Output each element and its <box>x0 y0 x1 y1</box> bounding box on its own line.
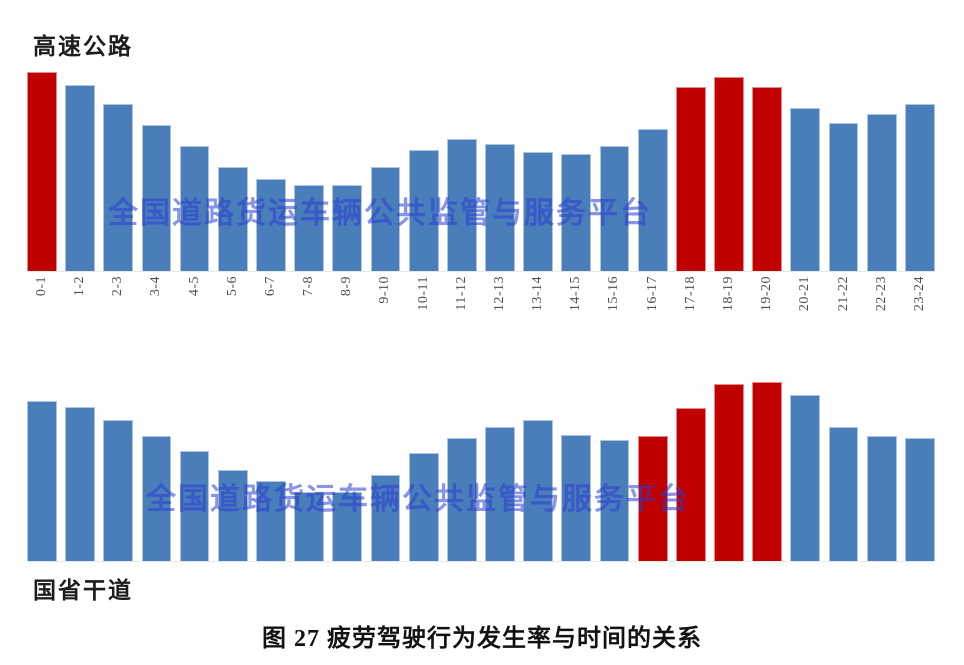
bar-15-16 <box>600 146 630 271</box>
bar-17-18 <box>676 408 706 561</box>
bar-4-5 <box>180 451 210 561</box>
bar-18-19 <box>714 384 744 561</box>
bar-23-24 <box>905 104 935 271</box>
x-tick-label-9-10: 9-10 <box>377 276 393 304</box>
x-axis-tick-labels: 0-11-22-33-44-55-66-77-88-99-1010-1111-1… <box>27 274 935 330</box>
x-tick-label-17-18: 17-18 <box>683 276 699 311</box>
bar-1-2 <box>65 85 95 271</box>
x-tick-wrap: 10-11 <box>409 274 439 330</box>
figure-caption: 图 27 疲劳驾驶行为发生率与时间的关系 <box>0 618 964 653</box>
bar-14-15 <box>561 154 591 271</box>
x-tick-label-3-4: 3-4 <box>148 276 164 296</box>
bar-12-13 <box>485 427 515 561</box>
bar-6-7 <box>256 481 286 561</box>
x-tick-wrap: 8-9 <box>332 274 362 330</box>
x-tick-label-12-13: 12-13 <box>492 276 508 311</box>
bar-21-22 <box>829 123 859 271</box>
x-tick-wrap: 16-17 <box>638 274 668 330</box>
bar-22-23 <box>867 436 897 561</box>
axis-baseline-bottom <box>27 561 935 562</box>
x-tick-wrap: 5-6 <box>218 274 248 330</box>
x-tick-label-15-16: 15-16 <box>606 276 622 311</box>
x-tick-wrap: 13-14 <box>523 274 553 330</box>
figure-container: 高速公路 全国道路货运车辆公共监管与服务平台 0-11-22-33-44-55-… <box>0 0 964 665</box>
bar-15-16 <box>600 440 630 561</box>
bar-20-21 <box>790 108 820 271</box>
bar-18-19 <box>714 77 744 271</box>
bar-8-9 <box>332 185 362 271</box>
x-tick-label-21-22: 21-22 <box>836 276 852 311</box>
bar-12-13 <box>485 144 515 271</box>
bar-7-8 <box>294 185 324 271</box>
x-tick-label-10-11: 10-11 <box>416 276 432 311</box>
x-tick-label-16-17: 16-17 <box>645 276 661 311</box>
bar-10-11 <box>409 453 439 561</box>
x-tick-label-2-3: 2-3 <box>110 276 126 296</box>
x-tick-wrap: 18-19 <box>714 274 744 330</box>
x-tick-wrap: 3-4 <box>142 274 172 330</box>
bar-16-17 <box>638 436 668 561</box>
x-tick-label-0-1: 0-1 <box>34 276 50 296</box>
bar-7-8 <box>294 492 324 561</box>
bar-5-6 <box>218 167 248 272</box>
x-tick-wrap: 4-5 <box>180 274 210 330</box>
x-tick-label-6-7: 6-7 <box>263 276 279 296</box>
x-tick-wrap: 20-21 <box>790 274 820 330</box>
x-tick-label-1-2: 1-2 <box>72 276 88 296</box>
x-tick-wrap: 12-13 <box>485 274 515 330</box>
bar-11-12 <box>447 438 477 561</box>
x-tick-label-22-23: 22-23 <box>874 276 890 311</box>
bar-0-1 <box>27 401 57 561</box>
bar-1-2 <box>65 407 95 561</box>
x-tick-wrap: 2-3 <box>103 274 133 330</box>
bar-series-top <box>27 62 935 271</box>
bar-13-14 <box>523 420 553 561</box>
bar-20-21 <box>790 395 820 561</box>
bar-3-4 <box>142 125 172 271</box>
x-tick-wrap: 14-15 <box>561 274 591 330</box>
bar-8-9 <box>332 492 362 561</box>
x-tick-label-4-5: 4-5 <box>187 276 203 296</box>
x-tick-wrap: 6-7 <box>256 274 286 330</box>
chart-plot-bottom <box>27 375 935 561</box>
bar-19-20 <box>752 87 782 271</box>
x-tick-wrap: 19-20 <box>752 274 782 330</box>
x-tick-label-19-20: 19-20 <box>759 276 775 311</box>
x-tick-label-14-15: 14-15 <box>568 276 584 311</box>
bar-19-20 <box>752 382 782 561</box>
bar-2-3 <box>103 420 133 561</box>
axis-baseline-top <box>27 271 935 272</box>
bar-13-14 <box>523 152 553 271</box>
x-tick-label-20-21: 20-21 <box>797 276 813 311</box>
bar-10-11 <box>409 150 439 271</box>
bar-14-15 <box>561 435 591 561</box>
x-tick-wrap: 11-12 <box>447 274 477 330</box>
chart-plot-top <box>27 62 935 271</box>
panel-title-top: 高速公路 <box>33 27 133 61</box>
bar-16-17 <box>638 129 668 271</box>
x-tick-label-11-12: 11-12 <box>454 276 470 311</box>
x-tick-label-5-6: 5-6 <box>225 276 241 296</box>
bar-9-10 <box>371 475 401 561</box>
x-tick-wrap: 23-24 <box>905 274 935 330</box>
bar-22-23 <box>867 114 897 271</box>
x-tick-label-23-24: 23-24 <box>912 276 928 311</box>
bar-6-7 <box>256 179 286 271</box>
bar-0-1 <box>27 72 57 271</box>
x-tick-wrap: 22-23 <box>867 274 897 330</box>
bar-3-4 <box>142 436 172 561</box>
x-tick-wrap: 15-16 <box>600 274 630 330</box>
x-tick-wrap: 9-10 <box>371 274 401 330</box>
x-tick-wrap: 17-18 <box>676 274 706 330</box>
x-tick-label-7-8: 7-8 <box>301 276 317 296</box>
x-tick-label-18-19: 18-19 <box>721 276 737 311</box>
x-tick-wrap: 0-1 <box>27 274 57 330</box>
x-tick-label-13-14: 13-14 <box>530 276 546 311</box>
bar-4-5 <box>180 146 210 271</box>
bar-2-3 <box>103 104 133 271</box>
bar-series-bottom <box>27 375 935 561</box>
x-tick-wrap: 7-8 <box>294 274 324 330</box>
bar-5-6 <box>218 470 248 561</box>
bar-21-22 <box>829 427 859 561</box>
x-tick-wrap: 21-22 <box>829 274 859 330</box>
x-tick-label-8-9: 8-9 <box>339 276 355 296</box>
x-tick-wrap: 1-2 <box>65 274 95 330</box>
bar-11-12 <box>447 139 477 271</box>
bar-23-24 <box>905 438 935 561</box>
panel-title-bottom: 国省干道 <box>33 571 133 605</box>
bar-9-10 <box>371 167 401 272</box>
bar-17-18 <box>676 87 706 271</box>
